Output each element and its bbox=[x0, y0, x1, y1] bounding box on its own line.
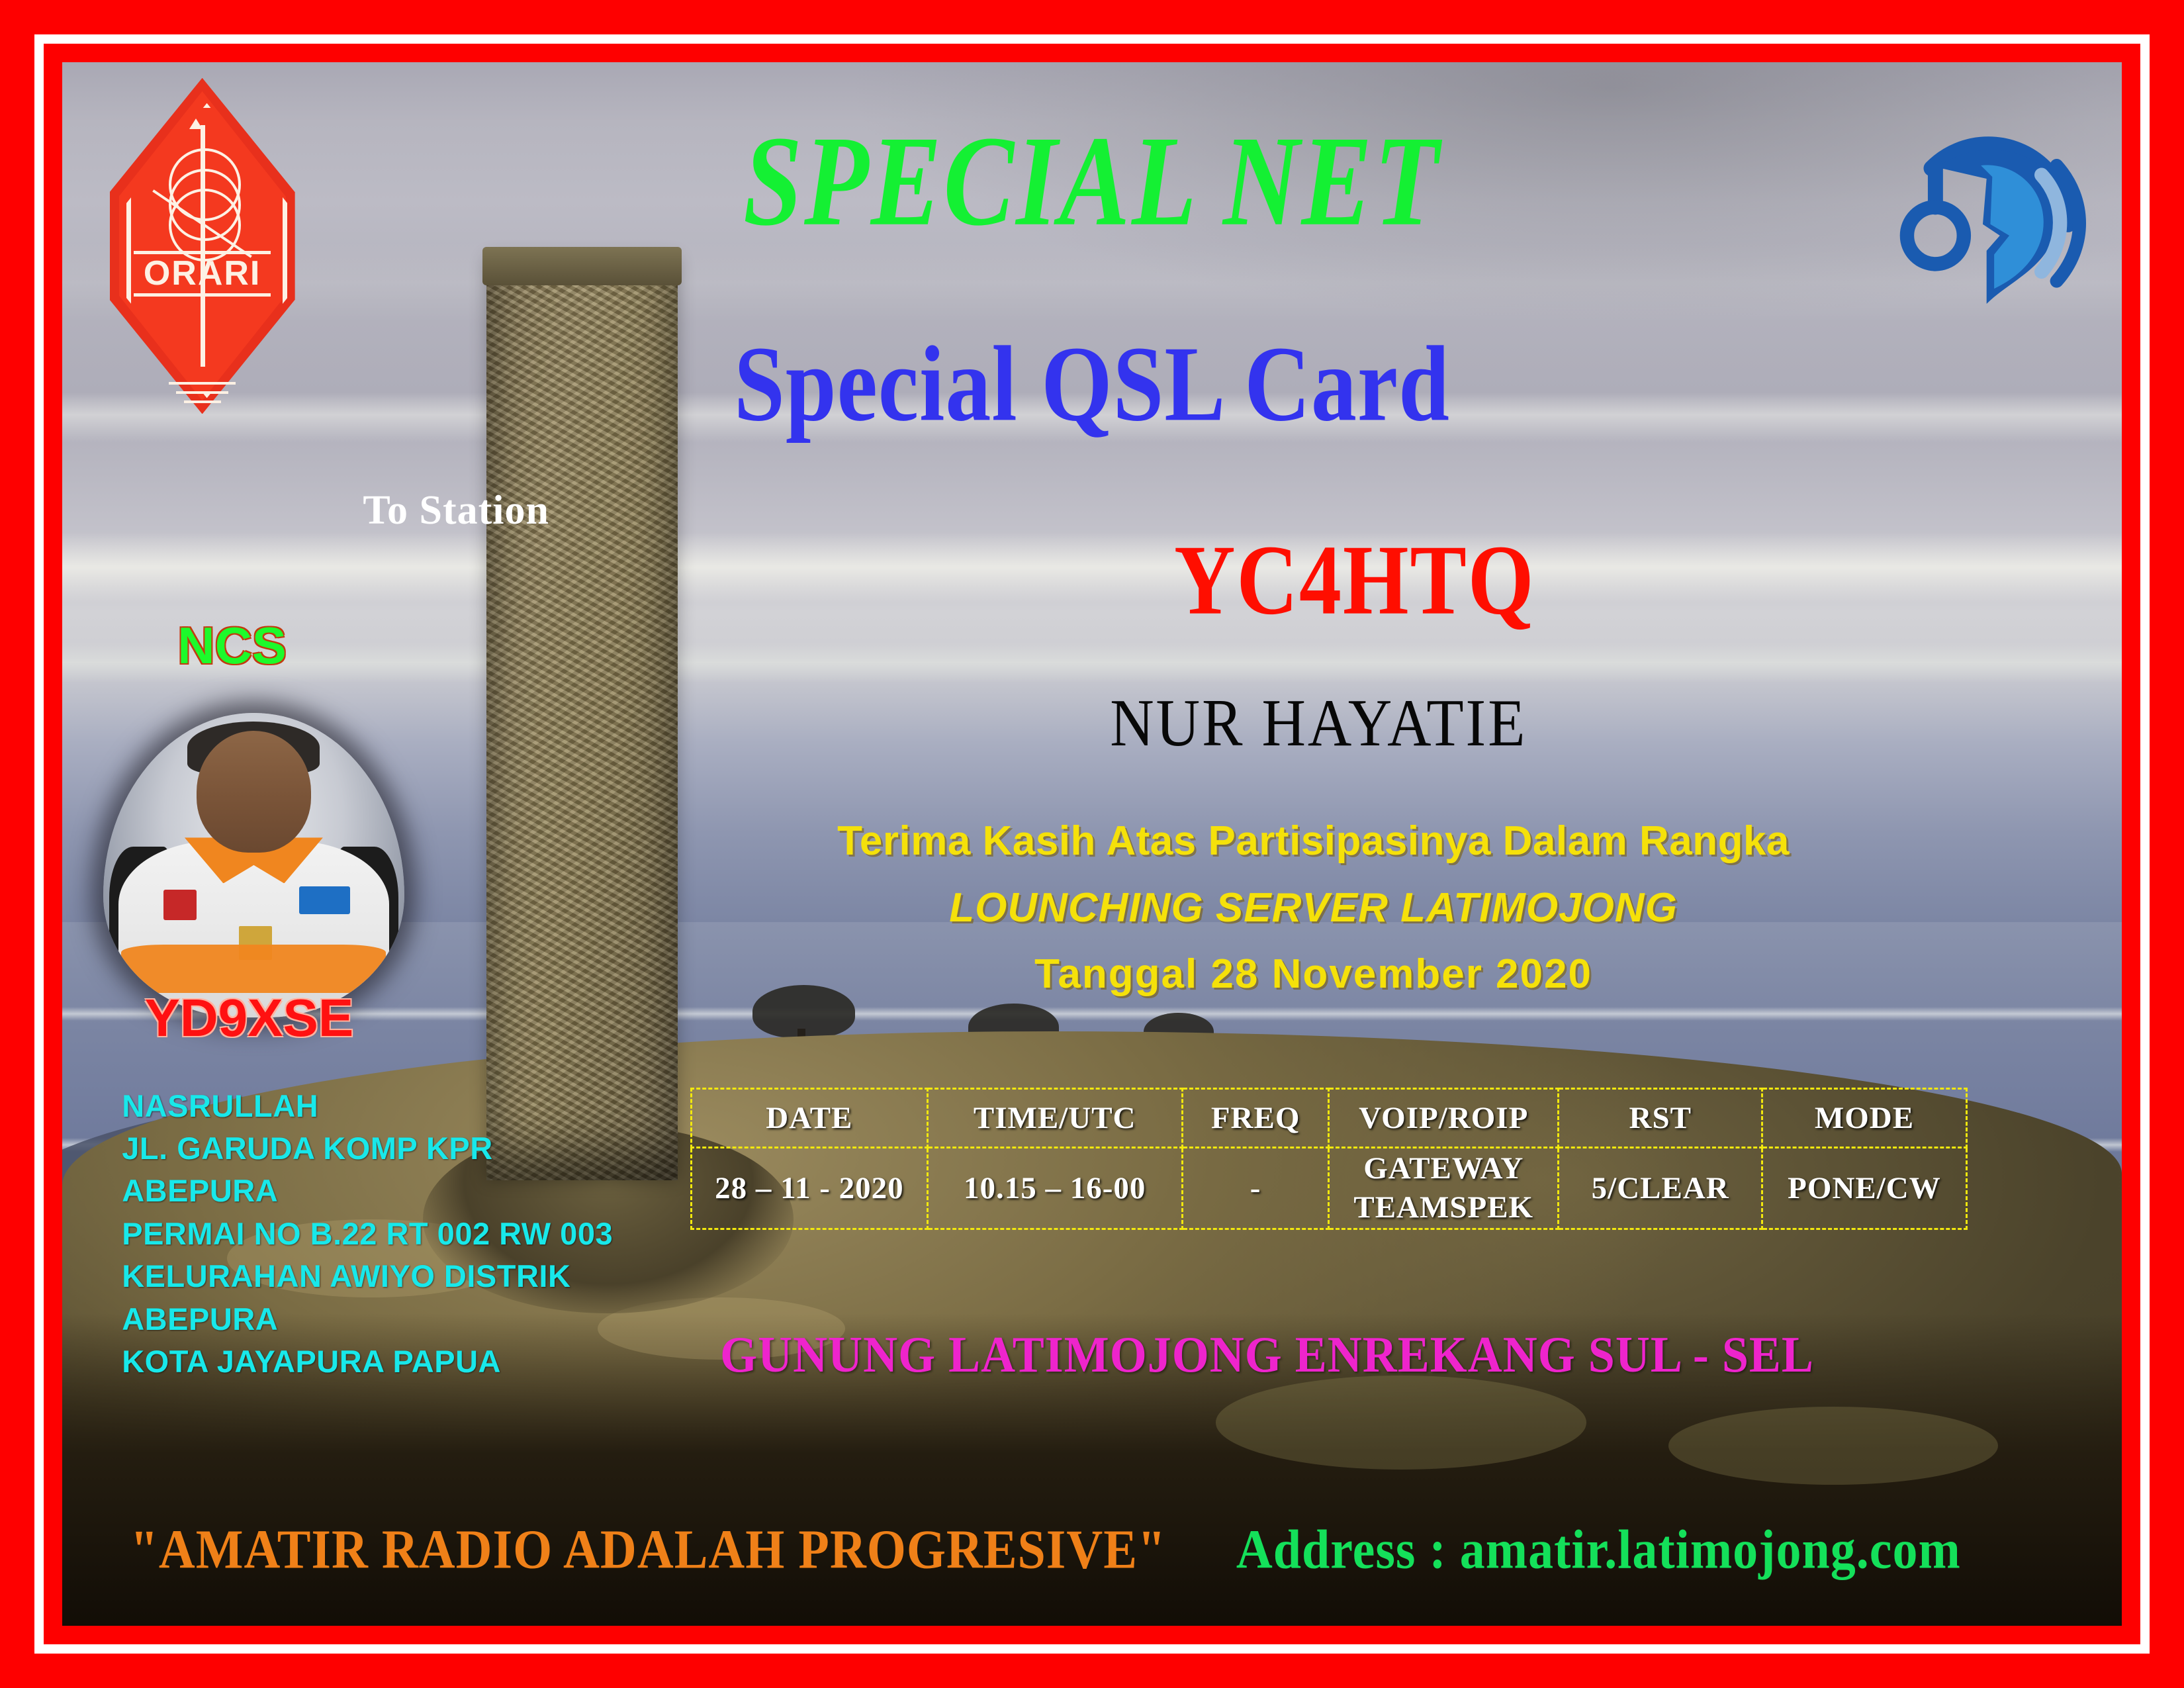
column-header-freq: FREQ bbox=[1182, 1089, 1329, 1148]
footer-motto: "AMATIR RADIO ADALAH PROGRESIVE" bbox=[130, 1518, 1166, 1581]
table-row: 28 – 11 - 2020 10.15 – 16-00 - GATEWAY T… bbox=[692, 1148, 1966, 1229]
address-line: NASRULLAH bbox=[122, 1085, 613, 1127]
cell-time: 10.15 – 16-00 bbox=[927, 1148, 1182, 1229]
address-line: PERMAI NO B.22 RT 002 RW 003 bbox=[122, 1213, 613, 1255]
address-line: JL. GARUDA KOMP KPR bbox=[122, 1127, 613, 1170]
background-photograph: ORARI bbox=[62, 62, 2122, 1626]
address-line: ABEPURA bbox=[122, 1170, 613, 1212]
cell-mode: PONE/CW bbox=[1762, 1148, 1966, 1229]
cell-rst: 5/CLEAR bbox=[1559, 1148, 1762, 1229]
footer-website: Address : amatir.latimojong.com bbox=[1236, 1518, 1961, 1581]
station-callsign: YC4HTQ bbox=[62, 522, 2122, 637]
station-operator-name: NUR HAYATIE bbox=[62, 684, 2122, 761]
column-header-rst: RST bbox=[1559, 1089, 1762, 1148]
event-title: LOUNCHING SERVER LATIMOJONG bbox=[62, 884, 2122, 931]
qsl-card: ORARI bbox=[0, 0, 2184, 1688]
event-date-line: Tanggal 28 November 2020 bbox=[62, 951, 2122, 998]
location-line: GUNUNG LATIMOJONG ENREKANG SUL - SEL bbox=[62, 1325, 2122, 1385]
table-header-row: DATE TIME/UTC FREQ VOIP/ROIP RST MODE bbox=[692, 1089, 1966, 1148]
cell-date: 28 – 11 - 2020 bbox=[692, 1148, 927, 1229]
qso-details-table: DATE TIME/UTC FREQ VOIP/ROIP RST MODE 28… bbox=[690, 1088, 1967, 1230]
event-thanks-line: Terima Kasih Atas Partisipasinya Dalam R… bbox=[62, 818, 2122, 865]
column-header-time: TIME/UTC bbox=[927, 1089, 1182, 1148]
address-line: KELURAHAN AWIYO DISTRIK bbox=[122, 1255, 613, 1297]
column-header-mode: MODE bbox=[1762, 1089, 1966, 1148]
cell-freq: - bbox=[1182, 1148, 1329, 1229]
card-white-frame: ORARI bbox=[34, 34, 2150, 1654]
column-header-date: DATE bbox=[692, 1089, 927, 1148]
cell-voip: GATEWAY TEAMSPEK bbox=[1329, 1148, 1559, 1229]
orari-logo-label: ORARI bbox=[110, 254, 295, 294]
card-inner-red-frame: ORARI bbox=[44, 44, 2140, 1644]
column-header-voip: VOIP/ROIP bbox=[1329, 1089, 1559, 1148]
heading-special-qsl-card: Special QSL Card bbox=[62, 322, 2122, 446]
heading-special-net: SPECIAL NET bbox=[62, 107, 2122, 256]
